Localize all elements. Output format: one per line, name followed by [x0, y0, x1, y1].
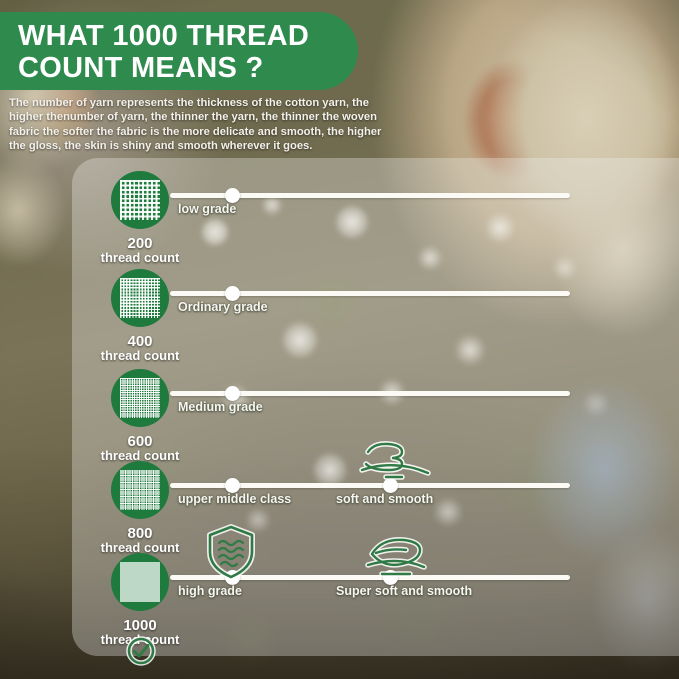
grade-marker-dot[interactable] [225, 286, 240, 301]
grade-stop-label: Super soft and smooth [336, 584, 472, 598]
mesh-pattern [120, 562, 160, 602]
thread-count-number: 200 [80, 237, 200, 251]
thread-mesh-swatch [111, 461, 169, 519]
thread-mesh-swatch [111, 369, 169, 427]
grade-stop-label: Ordinary grade [178, 300, 268, 314]
thread-count-number: 800 [80, 527, 200, 541]
header-banner: WHAT 1000 THREAD COUNT MEANS ? [0, 12, 358, 90]
page-title-line-2: COUNT MEANS ? [18, 52, 336, 84]
thread-count-label: 800thread count [80, 527, 200, 555]
thread-count-number: 400 [80, 335, 200, 349]
grade-marker-dot[interactable] [225, 188, 240, 203]
grade-marker-dot[interactable] [225, 386, 240, 401]
page-title-line-1: WHAT 1000 THREAD [18, 20, 336, 52]
grade-stop-label: low grade [178, 202, 236, 216]
thread-mesh-swatch [111, 269, 169, 327]
thread-count-number: 1000 [80, 619, 200, 633]
mesh-pattern [120, 470, 160, 510]
grade-marker-dot[interactable] [225, 478, 240, 493]
thread-count-label: 400thread count [80, 335, 200, 363]
grade-stop-label: Medium grade [178, 400, 263, 414]
thread-count-label: 200thread count [80, 237, 200, 265]
mesh-pattern [120, 378, 160, 418]
thread-count-number: 600 [80, 435, 200, 449]
feather-softness-icon [358, 534, 434, 582]
grade-stop-label: upper middle class [178, 492, 291, 506]
mesh-pattern [120, 180, 160, 220]
thread-mesh-swatch [111, 171, 169, 229]
thread-mesh-swatch [111, 553, 169, 611]
grade-stop-label: soft and smooth [336, 492, 433, 506]
thread-count-suffix: thread count [101, 250, 180, 265]
thread-count-label: 600thread count [80, 435, 200, 463]
description-text: The number of yarn represents the thickn… [9, 96, 389, 154]
quality-shield-icon [206, 524, 256, 580]
mesh-pattern [120, 278, 160, 318]
thread-count-suffix: thread count [101, 348, 180, 363]
verified-check-icon [126, 636, 156, 666]
soft-fabric-hand-icon [356, 436, 434, 482]
grade-stop-label: high grade [178, 584, 242, 598]
